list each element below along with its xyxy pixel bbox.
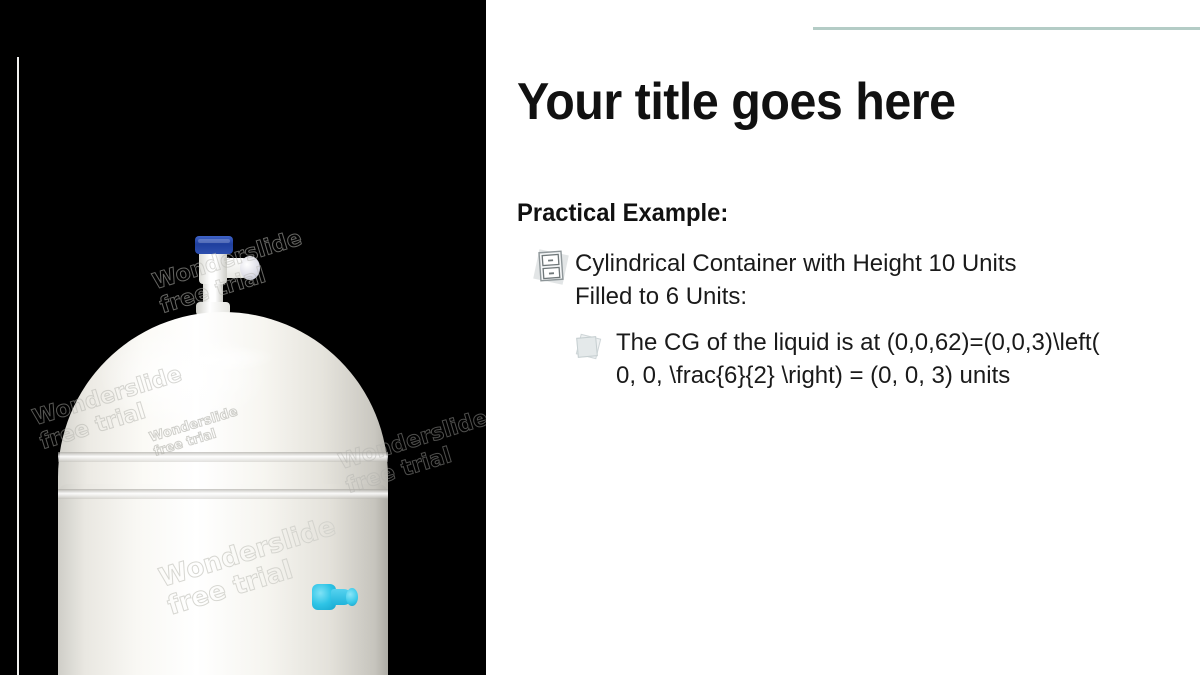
filing-cabinet-icon xyxy=(534,250,570,286)
tank-seam-lower xyxy=(58,489,388,499)
valve-knob xyxy=(195,236,233,254)
tank-dome-highlight xyxy=(153,343,274,377)
bullet-list: Cylindrical Container with Height 10 Uni… xyxy=(500,248,1200,393)
content-panel: Your title goes here Practical Example: … xyxy=(486,0,1200,675)
square-bullet-icon-front xyxy=(576,336,598,358)
valve-body xyxy=(199,250,227,284)
section-heading: Practical Example: xyxy=(517,198,728,228)
tank-outlet-port xyxy=(312,584,358,610)
header-accent-rule xyxy=(813,27,1200,30)
pressure-tank-photo xyxy=(58,236,388,675)
panel-accent-line xyxy=(17,57,19,675)
filing-cabinet-icon-glyph xyxy=(536,250,566,283)
page-title: Your title goes here xyxy=(517,75,1131,130)
tank-body xyxy=(58,484,388,675)
image-panel: Wonderslidefree trial Wonderslidefree tr… xyxy=(0,0,486,675)
tank-seam-upper xyxy=(58,452,388,462)
list-item-label: Cylindrical Container with Height 10 Uni… xyxy=(575,248,1065,313)
port-tip xyxy=(346,588,358,606)
list-item-label: The CG of the liquid is at (0,0,62)=(0,0… xyxy=(616,327,1126,392)
square-bullet-icon xyxy=(576,334,600,358)
list-item: The CG of the liquid is at (0,0,62)=(0,0… xyxy=(500,327,1200,392)
slide-canvas: Wonderslidefree trial Wonderslidefree tr… xyxy=(0,0,1200,675)
list-item: Cylindrical Container with Height 10 Uni… xyxy=(500,248,1200,313)
valve-arm-cap-icon xyxy=(240,256,260,280)
